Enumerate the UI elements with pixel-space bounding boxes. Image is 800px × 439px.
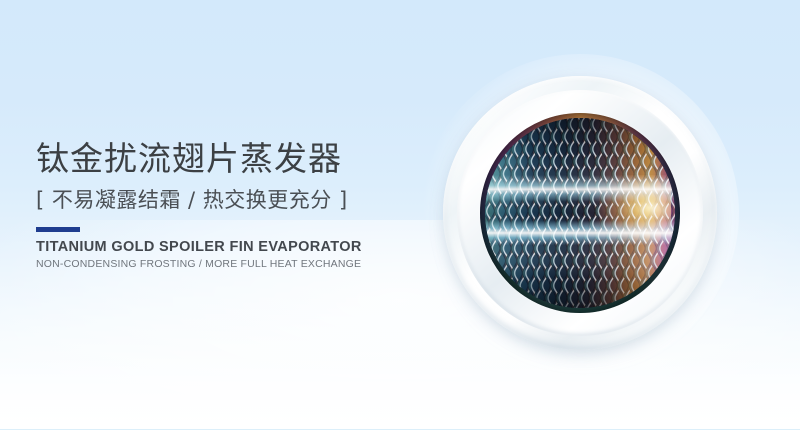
disc-outer-bezel bbox=[443, 76, 717, 350]
subheadline-chinese: [ 不易凝露结霜 / 热交换更充分 ] bbox=[36, 185, 436, 215]
disc-inner-bezel bbox=[457, 90, 703, 336]
evaporator-fin-core bbox=[485, 118, 675, 308]
caption-english: NON-CONDENSING FROSTING / MORE FULL HEAT… bbox=[36, 257, 436, 272]
product-image-evaporator bbox=[443, 76, 717, 350]
product-banner: 钛金扰流翅片蒸发器 [ 不易凝露结霜 / 热交换更充分 ] TITANIUM G… bbox=[0, 0, 800, 439]
title-english: TITANIUM GOLD SPOILER FIN EVAPORATOR bbox=[36, 239, 436, 256]
headline-chinese: 钛金扰流翅片蒸发器 bbox=[36, 139, 436, 179]
wavy-fin-pattern bbox=[485, 118, 675, 308]
disc-iridescent-rim bbox=[480, 113, 680, 313]
banner-text-block: 钛金扰流翅片蒸发器 [ 不易凝露结霜 / 热交换更充分 ] TITANIUM G… bbox=[36, 139, 436, 272]
accent-divider bbox=[36, 227, 80, 232]
bottom-hairline bbox=[0, 429, 800, 430]
